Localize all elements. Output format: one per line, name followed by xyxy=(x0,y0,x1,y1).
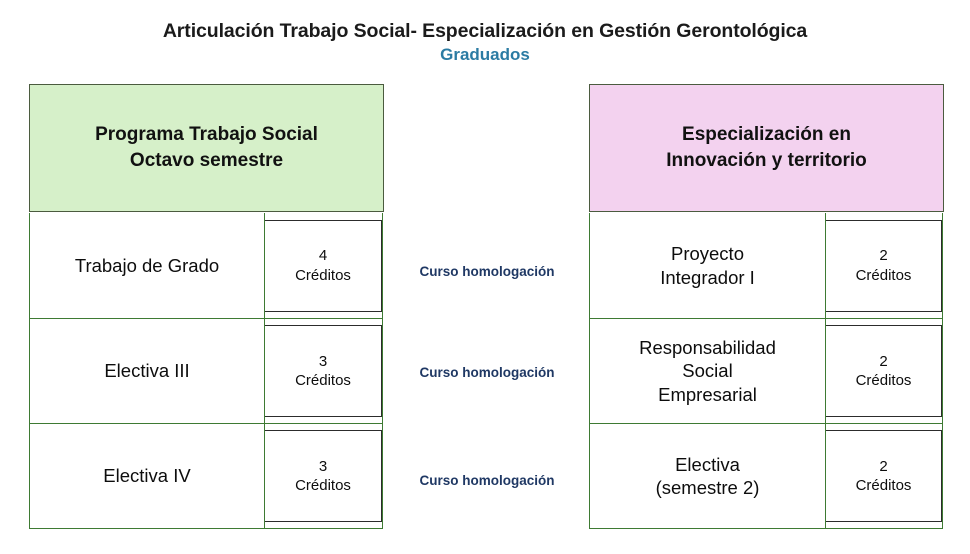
left-course-table: Trabajo de Grado 4 Créditos Electiva III… xyxy=(29,213,383,529)
course-name-line2: Integrador I xyxy=(660,266,755,289)
left-program-column: Programa Trabajo Social Octavo semestre … xyxy=(29,84,384,529)
credits-label: Créditos xyxy=(295,371,351,391)
course-name-line1: Responsabilidad xyxy=(639,336,776,359)
left-program-header-line1: Programa Trabajo Social xyxy=(95,122,318,148)
course-name-line3: Empresarial xyxy=(639,383,776,406)
course-name: Responsabilidad Social Empresarial xyxy=(590,319,826,423)
credits-number: 2 xyxy=(879,246,887,266)
credits-cell: 2 Créditos xyxy=(826,319,942,423)
page-subtitle: Graduados xyxy=(0,44,970,67)
course-name: Proyecto Integrador I xyxy=(590,213,826,318)
table-row: Electiva (semestre 2) 2 Créditos xyxy=(590,423,942,528)
credits-label: Créditos xyxy=(295,476,351,496)
table-row: Electiva IV 3 Créditos xyxy=(30,423,382,528)
credits-box: 2 Créditos xyxy=(826,430,942,522)
credits-label: Créditos xyxy=(856,266,912,286)
table-row: Responsabilidad Social Empresarial 2 Cré… xyxy=(590,318,942,423)
credits-label: Créditos xyxy=(856,476,912,496)
course-name: Electiva (semestre 2) xyxy=(590,424,826,528)
credits-box: 4 Créditos xyxy=(265,220,382,312)
left-program-header: Programa Trabajo Social Octavo semestre xyxy=(29,84,384,212)
credits-label: Créditos xyxy=(295,266,351,286)
left-program-header-line2: Octavo semestre xyxy=(95,148,318,174)
course-name-line1: Electiva xyxy=(656,453,760,476)
right-program-header-line1: Especialización en xyxy=(666,122,867,148)
credits-box: 3 Créditos xyxy=(265,325,382,417)
credits-cell: 4 Créditos xyxy=(265,213,382,318)
title-block: Articulación Trabajo Social- Especializa… xyxy=(0,20,970,67)
credits-number: 2 xyxy=(879,457,887,477)
course-name-line2: Social xyxy=(639,359,776,382)
right-program-column: Especialización en Innovación y territor… xyxy=(589,84,944,529)
credits-number: 2 xyxy=(879,352,887,372)
credits-cell: 2 Créditos xyxy=(826,213,942,318)
credits-box: 2 Créditos xyxy=(826,220,942,312)
credits-number: 3 xyxy=(319,457,327,477)
table-row: Electiva III 3 Créditos xyxy=(30,318,382,423)
connector-label-homologacion-1: Curso homologación xyxy=(388,264,586,279)
right-program-header-line2: Innovación y territorio xyxy=(666,148,867,174)
credits-label: Créditos xyxy=(856,371,912,391)
credits-box: 3 Créditos xyxy=(265,430,382,522)
credits-box: 2 Créditos xyxy=(826,325,942,417)
credits-cell: 3 Créditos xyxy=(265,319,382,423)
right-course-table: Proyecto Integrador I 2 Créditos Respons… xyxy=(589,213,943,529)
course-name: Electiva IV xyxy=(30,424,265,528)
connector-label-homologacion-3: Curso homologación xyxy=(388,473,586,488)
credits-number: 4 xyxy=(319,246,327,266)
course-name: Trabajo de Grado xyxy=(30,213,265,318)
connector-label-homologacion-2: Curso homologación xyxy=(388,365,586,380)
credits-number: 3 xyxy=(319,352,327,372)
course-name: Electiva III xyxy=(30,319,265,423)
credits-cell: 3 Créditos xyxy=(265,424,382,528)
course-name-line2: (semestre 2) xyxy=(656,476,760,499)
course-name-line1: Proyecto xyxy=(660,242,755,265)
table-row: Trabajo de Grado 4 Créditos xyxy=(30,213,382,318)
table-row: Proyecto Integrador I 2 Créditos xyxy=(590,213,942,318)
right-program-header: Especialización en Innovación y territor… xyxy=(589,84,944,212)
page-title: Articulación Trabajo Social- Especializa… xyxy=(0,20,970,43)
credits-cell: 2 Créditos xyxy=(826,424,942,528)
